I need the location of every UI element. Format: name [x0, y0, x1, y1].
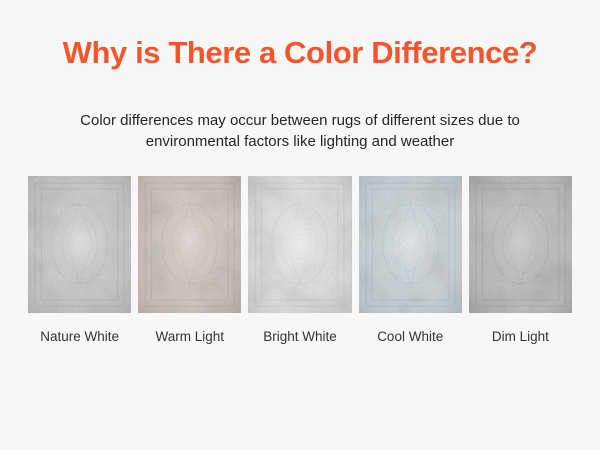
swatch-label: Nature White [40, 329, 119, 345]
page-title: Why is There a Color Difference? [0, 36, 600, 71]
swatch-item-cool-white[interactable]: Cool White [359, 176, 462, 345]
rug-swatch-icon [359, 176, 462, 313]
page-subtitle: Color differences may occur between rugs… [65, 110, 535, 153]
swatch-item-nature-white[interactable]: Nature White [28, 176, 131, 345]
swatch-label: Cool White [377, 329, 443, 345]
rug-swatch-row: Nature White Warm Light Bright White Coo… [28, 176, 572, 345]
rug-swatch-icon [469, 176, 572, 313]
swatch-label: Bright White [263, 329, 337, 345]
swatch-label: Dim Light [492, 329, 549, 345]
rug-swatch-icon [248, 176, 351, 313]
rug-swatch-icon [138, 176, 241, 313]
swatch-item-dim-light[interactable]: Dim Light [469, 176, 572, 345]
swatch-item-bright-white[interactable]: Bright White [248, 176, 351, 345]
rug-swatch-icon [28, 176, 131, 313]
swatch-item-warm-light[interactable]: Warm Light [138, 176, 241, 345]
swatch-label: Warm Light [156, 329, 225, 345]
color-difference-infographic: Why is There a Color Difference? Color d… [0, 0, 600, 450]
